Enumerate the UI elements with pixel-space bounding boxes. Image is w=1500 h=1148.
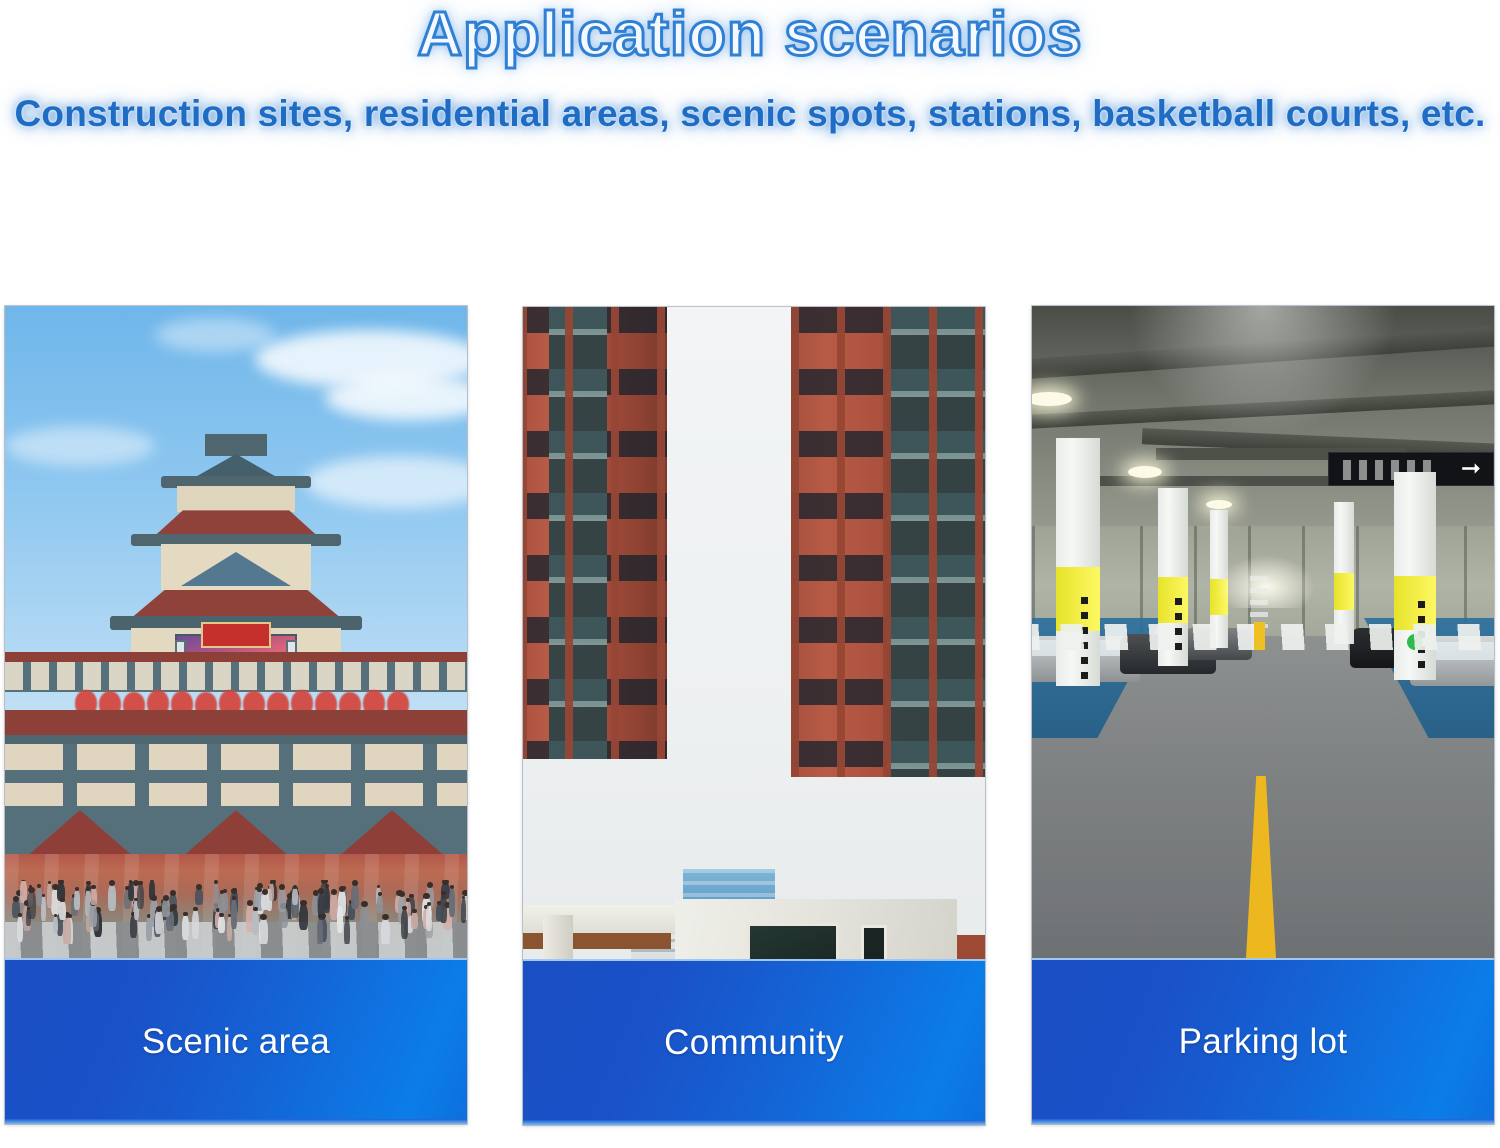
- crowd-person: [74, 890, 80, 910]
- crowd-person: [231, 899, 237, 929]
- gatehouse-slot-window: [861, 925, 887, 959]
- garage-column: [1334, 502, 1354, 644]
- crowd-person: [218, 916, 225, 933]
- ceiling-lamp: [1128, 466, 1162, 478]
- crowd-person: [299, 904, 308, 930]
- page-title: Application scenarios: [0, 2, 1500, 67]
- pagoda-finial: [205, 434, 267, 456]
- community-photo: [523, 307, 985, 959]
- crowd-person: [90, 888, 97, 905]
- crowd-person-head: [331, 889, 337, 895]
- crowd-person: [411, 912, 418, 929]
- crowd-person: [63, 916, 71, 944]
- crowd-person: [149, 880, 155, 900]
- crowd-person: [344, 919, 350, 944]
- scenario-card-scenic-area[interactable]: Scenic area: [5, 306, 467, 1124]
- crowd-person-head: [170, 890, 176, 896]
- crowd-person-head: [442, 880, 448, 885]
- brick-tower-left: [523, 307, 667, 759]
- crowd-person-head: [196, 884, 202, 890]
- crowd-person: [162, 899, 170, 917]
- crowd-person: [436, 904, 442, 921]
- crowd-person: [182, 915, 189, 940]
- crowd-person: [278, 888, 286, 912]
- page-header: Application scenarios Construction sites…: [0, 0, 1500, 135]
- crowd-person-head: [462, 890, 467, 896]
- column-yellow-band: [1334, 573, 1354, 610]
- brick-tower-right: [791, 307, 985, 777]
- red-banner-sign: [201, 622, 271, 648]
- crowd-person-head: [279, 884, 285, 890]
- crowd-person: [129, 883, 134, 901]
- crowd-person: [53, 916, 58, 933]
- crowd-person: [137, 884, 144, 909]
- crowd-person-head: [339, 886, 345, 892]
- gable-row: [5, 806, 467, 858]
- hall-lower-facade: [5, 744, 467, 808]
- caption-community: Community: [523, 959, 985, 1125]
- crowd-person-head: [423, 893, 429, 899]
- crowd-person: [426, 905, 432, 931]
- right-arrow-icon: ➞: [1461, 457, 1481, 481]
- column-yellow-band: [1056, 567, 1100, 631]
- crowd-person: [317, 917, 323, 944]
- railing-slats: [5, 662, 467, 690]
- crowd-person-head: [262, 889, 268, 895]
- crowd-person: [26, 909, 31, 926]
- gable: [181, 806, 291, 858]
- page-subtitle: Construction sites, residential areas, s…: [0, 93, 1500, 135]
- pagoda-wall-tier1: [177, 486, 295, 512]
- scenic-area-photo: [5, 306, 467, 958]
- crowd-person: [108, 884, 116, 911]
- ceiling-lamp: [1206, 500, 1232, 509]
- tower-piers: [523, 307, 667, 759]
- parking-lot-photo: ➞: [1032, 306, 1494, 958]
- crowd-person-head: [231, 888, 237, 894]
- lane-dashed-marking: [1250, 576, 1268, 628]
- crowd-person: [381, 918, 390, 944]
- scenario-card-parking-lot[interactable]: ➞: [1032, 306, 1494, 1124]
- crowd-person-head: [399, 891, 405, 897]
- crowd-person-head: [382, 914, 388, 920]
- crowd-person-head: [300, 900, 306, 906]
- crowd-person-head: [109, 880, 115, 886]
- crowd-person: [449, 888, 455, 917]
- caption-scenic-area: Scenic area: [5, 958, 467, 1124]
- crowd-person-head: [260, 914, 266, 920]
- column-yellow-band: [1394, 576, 1436, 630]
- crowd-person: [401, 909, 408, 939]
- crowd-person: [195, 888, 203, 905]
- crowd-person-head: [13, 896, 19, 902]
- facade-crossbeam: [5, 770, 467, 783]
- hall-red-roof: [5, 710, 467, 744]
- crowd-person: [269, 883, 274, 901]
- tower-piers: [791, 307, 985, 777]
- crowd-person: [36, 887, 42, 906]
- scenario-card-community[interactable]: Community: [523, 307, 985, 1125]
- scenario-panel-grid: Scenic area: [0, 306, 1500, 1126]
- cloud-shape: [155, 318, 275, 352]
- crowd-person-head: [352, 880, 358, 886]
- crowd-person: [59, 901, 66, 920]
- gatehouse-window: [747, 923, 839, 959]
- crowd-person: [377, 895, 383, 913]
- crowd-person: [261, 893, 269, 910]
- crowd-person: [461, 898, 466, 923]
- crowd-person: [360, 905, 369, 928]
- gable: [25, 806, 135, 858]
- crowd-person: [89, 904, 97, 927]
- crowd-person: [252, 910, 259, 935]
- hall-railing: [5, 662, 467, 690]
- caption-parking-lot: Parking lot: [1032, 958, 1494, 1124]
- gable: [337, 806, 447, 858]
- crowd-person: [324, 887, 330, 913]
- crowd-person: [192, 910, 199, 939]
- crowd-person-head: [163, 895, 169, 901]
- crowd-person-head: [58, 880, 64, 885]
- yellow-centre-line-far: [1254, 622, 1265, 650]
- crowd-person: [292, 888, 298, 905]
- crowd-person: [47, 883, 52, 908]
- crowd-person: [259, 918, 268, 944]
- crowd-person-head: [427, 882, 433, 888]
- crowd-person-head: [247, 900, 253, 906]
- visitor-crowd: [5, 880, 467, 944]
- crowd-person: [351, 884, 359, 909]
- gate-pillar: [543, 915, 573, 959]
- crowd-person-head: [28, 887, 34, 893]
- crowd-person-head: [361, 901, 367, 907]
- crowd-person: [338, 890, 346, 916]
- column-yellow-band: [1158, 577, 1188, 623]
- floor-reflection: [1128, 306, 1398, 436]
